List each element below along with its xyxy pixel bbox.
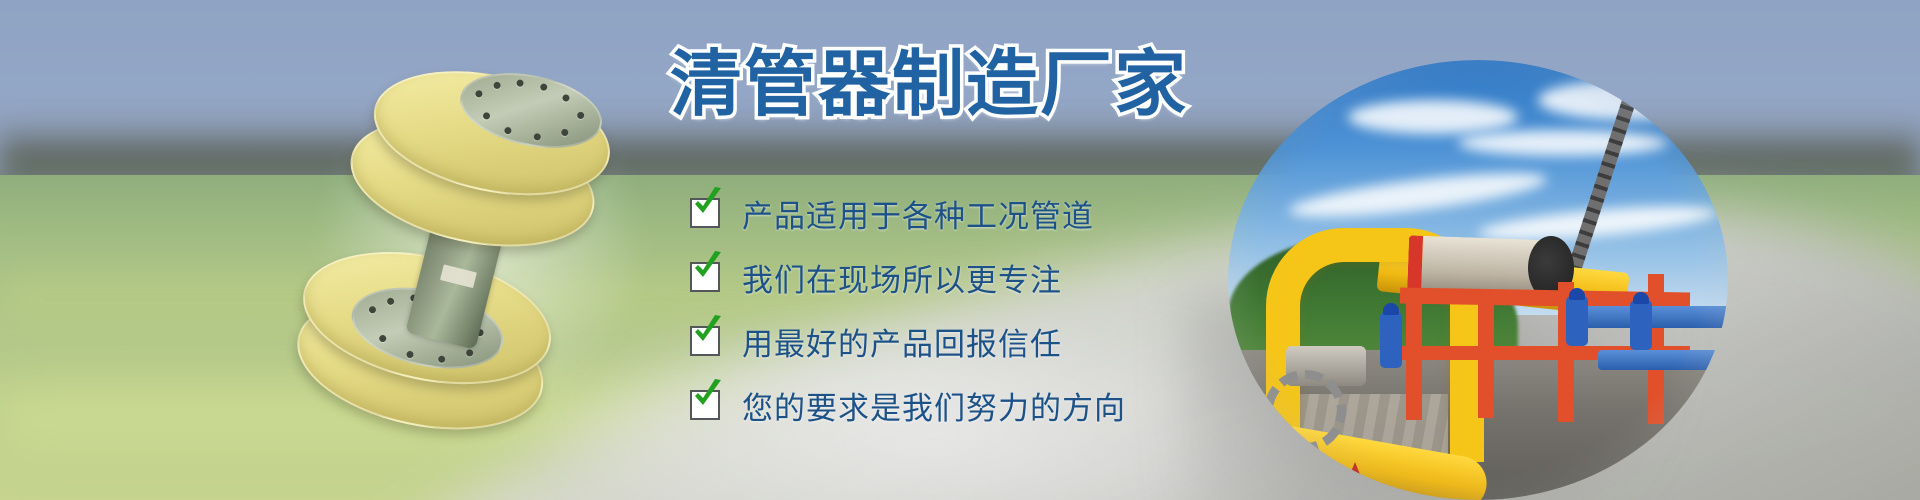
feature-item: 用最好的产品回报信任 xyxy=(690,320,1126,362)
photo-cloud xyxy=(1458,130,1668,156)
feature-label: 您的要求是我们努力的方向 xyxy=(742,383,1126,428)
photo-blue-pipe xyxy=(1584,306,1728,328)
photo-worker-helmet xyxy=(1383,303,1399,315)
feature-label: 我们在现场所以更专注 xyxy=(742,255,1062,300)
promo-banner: 清管器制造厂家 产品适用于各种工况管道 我们在现场所以更专注 xyxy=(0,0,1920,500)
photo-worker-helmet xyxy=(1633,292,1649,304)
pipeline-pig-product-photo xyxy=(277,47,684,454)
flow-arrow-icon xyxy=(1346,462,1364,484)
checkbox-checked-icon xyxy=(690,390,720,420)
photo-cloud xyxy=(1348,100,1518,134)
feature-list: 产品适用于各种工况管道 我们在现场所以更专注 用最好的产品回报信任 xyxy=(690,192,1126,426)
feature-label: 产品适用于各种工况管道 xyxy=(742,191,1094,236)
feature-label: 用最好的产品回报信任 xyxy=(742,319,1062,364)
worksite-photo-content xyxy=(1228,60,1728,500)
photo-frame-leg xyxy=(1478,290,1494,418)
checkbox-checked-icon xyxy=(690,326,720,356)
photo-blue-pipe xyxy=(1598,350,1728,370)
checkbox-checked-icon xyxy=(690,262,720,292)
banner-headline: 清管器制造厂家 xyxy=(670,46,1188,125)
pipeline-worksite-photo xyxy=(1228,60,1728,500)
photo-worker xyxy=(1566,296,1588,346)
photo-frame-leg xyxy=(1648,274,1664,424)
feature-item: 产品适用于各种工况管道 xyxy=(690,192,1126,234)
photo-worker xyxy=(1380,312,1402,368)
photo-worker xyxy=(1630,300,1652,350)
feature-item: 我们在现场所以更专注 xyxy=(690,256,1126,298)
photo-flange xyxy=(1264,370,1346,452)
checkbox-checked-icon xyxy=(690,198,720,228)
feature-item: 您的要求是我们努力的方向 xyxy=(690,384,1126,426)
photo-frame-leg xyxy=(1406,290,1422,420)
photo-worker-helmet xyxy=(1569,288,1585,300)
